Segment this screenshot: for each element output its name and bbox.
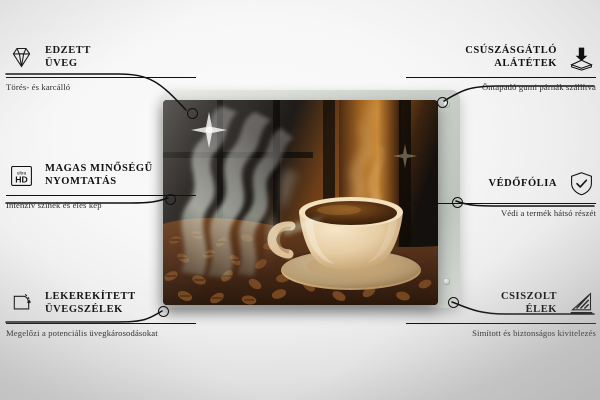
feature-hd-printing: ultra HD MAGAS MINŐSÉGŰ NYOMTATÁS Intenz… [6,160,196,211]
shield-check-icon [566,168,596,198]
svg-text:HD: HD [15,174,27,184]
product-photo [163,100,438,305]
feature-description: Megelőzi a potenciális üvegkárosodásokat [6,328,196,339]
anti-slip-pad-icon [566,42,596,72]
feature-description: Öntapadó gumi párnák szállítva [406,82,596,93]
feature-polished-edges: CSISZOLT ÉLEK Simított és biztonságos ki… [406,288,596,339]
feature-title: LEKEREKÍTETT ÜVEGSZÉLEK [45,290,136,316]
feature-protective-film: VÉDŐFÓLIA Védi a termék hátsó részét [406,168,596,219]
rounded-edge-icon [6,288,36,318]
feature-description: Védi a termék hátsó részét [406,208,596,219]
callout-anchor-ring [187,108,198,119]
feature-description: Törés- és karcálló [6,82,196,93]
diamond-icon [6,42,36,72]
callout-anchor-ring [437,97,448,108]
divider [6,323,196,324]
mount-screw [443,278,450,285]
ultra-hd-icon: ultra HD [6,160,36,190]
feature-rounded-edges: LEKEREKÍTETT ÜVEGSZÉLEK Megelőzi a poten… [6,288,196,339]
divider [406,323,596,324]
divider [406,77,596,78]
feature-description: Intenzív színek és éles kép [6,200,196,211]
feature-title: MAGAS MINŐSÉGŰ NYOMTATÁS [45,162,153,188]
feature-tempered-glass: EDZETT ÜVEG Törés- és karcálló [6,42,196,93]
feature-title: VÉDŐFÓLIA [488,177,557,190]
divider [6,77,196,78]
divider [6,195,196,196]
divider [406,203,596,204]
feature-title: CSISZOLT ÉLEK [501,290,557,316]
feature-description: Simított és biztonságos kivitelezés [406,328,596,339]
feature-anti-slip-pads: CSÚSZÁSGÁTLÓ ALÁTÉTEK Öntapadó gumi párn… [406,42,596,93]
feature-title: CSÚSZÁSGÁTLÓ ALÁTÉTEK [465,44,557,70]
infographic-canvas: EDZETT ÜVEG Törés- és karcálló ultra HD … [0,0,600,400]
polished-edge-icon [566,288,596,318]
feature-title: EDZETT ÜVEG [45,44,91,70]
